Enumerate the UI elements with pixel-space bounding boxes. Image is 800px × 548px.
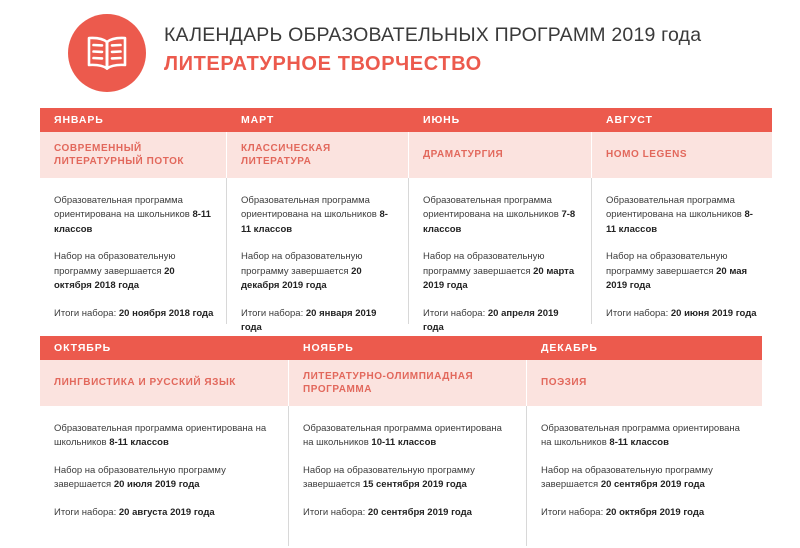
program-title-november: ЛИТЕРАТУРНО-ОЛИМПИАДНАЯ ПРОГРАММА — [289, 360, 527, 406]
results-line: Итоги набора: 20 августа 2019 года — [54, 506, 276, 520]
page-title: КАЛЕНДАРЬ ОБРАЗОВАТЕЛЬНЫХ ПРОГРАММ 2019 … — [164, 24, 701, 46]
audience-line: Образовательная программа ориентирована … — [423, 194, 579, 237]
month-label-march: МАРТ — [227, 108, 409, 132]
month-header-row: ОКТЯБРЬ НОЯБРЬ ДЕКАБРЬ — [40, 336, 762, 360]
program-title-march: КЛАССИЧЕСКАЯ ЛИТЕРАТУРА — [227, 132, 409, 178]
program-title-december: ПОЭЗИЯ — [527, 360, 762, 406]
program-title-august: HOMO LEGENS — [592, 132, 772, 178]
enrollment-line: Набор на образовательную программу завер… — [303, 464, 514, 493]
month-label-december: ДЕКАБРЬ — [527, 336, 762, 360]
program-detail-row: Образовательная программа ориентирована … — [40, 406, 762, 546]
program-details-march: Образовательная программа ориентирована … — [227, 178, 409, 324]
program-details-december: Образовательная программа ориентирована … — [527, 406, 762, 546]
program-title-row: СОВРЕМЕННЫЙ ЛИТЕРАТУРНЫЙ ПОТОК КЛАССИЧЕС… — [40, 132, 772, 178]
results-line: Итоги набора: 20 октября 2019 года — [541, 506, 750, 520]
results-line: Итоги набора: 20 сентября 2019 года — [303, 506, 514, 520]
enrollment-line: Набор на образовательную программу завер… — [541, 464, 750, 493]
audience-line: Образовательная программа ориентирована … — [606, 194, 760, 237]
month-label-october: ОКТЯБРЬ — [40, 336, 289, 360]
enrollment-line: Набор на образовательную программу завер… — [54, 464, 276, 493]
page-header: КАЛЕНДАРЬ ОБРАЗОВАТЕЛЬНЫХ ПРОГРАММ 2019 … — [0, 0, 800, 92]
program-details-august: Образовательная программа ориентирована … — [592, 178, 772, 324]
enrollment-line: Набор на образовательную программу завер… — [423, 250, 579, 293]
header-text-block: КАЛЕНДАРЬ ОБРАЗОВАТЕЛЬНЫХ ПРОГРАММ 2019 … — [164, 12, 701, 76]
month-label-august: АВГУСТ — [592, 108, 772, 132]
open-book-icon — [68, 14, 146, 92]
program-details-november: Образовательная программа ориентирована … — [289, 406, 527, 546]
program-title-row: ЛИНГВИСТИКА И РУССКИЙ ЯЗЫК ЛИТЕРАТУРНО-О… — [40, 360, 762, 406]
schedule-table-first-half: ЯНВАРЬ МАРТ ИЮНЬ АВГУСТ СОВРЕМЕННЫЙ ЛИТЕ… — [40, 108, 772, 324]
program-details-october: Образовательная программа ориентирована … — [40, 406, 289, 546]
audience-line: Образовательная программа ориентирована … — [303, 422, 514, 451]
results-line: Итоги набора: 20 июня 2019 года — [606, 307, 760, 321]
program-title-october: ЛИНГВИСТИКА И РУССКИЙ ЯЗЫК — [40, 360, 289, 406]
enrollment-line: Набор на образовательную программу завер… — [54, 250, 214, 293]
month-label-november: НОЯБРЬ — [289, 336, 527, 360]
enrollment-line: Набор на образовательную программу завер… — [606, 250, 760, 293]
schedule-table-second-half: ОКТЯБРЬ НОЯБРЬ ДЕКАБРЬ ЛИНГВИСТИКА И РУС… — [40, 336, 762, 546]
results-line: Итоги набора: 20 января 2019 года — [241, 307, 396, 336]
month-label-june: ИЮНЬ — [409, 108, 592, 132]
audience-line: Образовательная программа ориентирована … — [54, 194, 214, 237]
program-title-june: ДРАМАТУРГИЯ — [409, 132, 592, 178]
page-subtitle: ЛИТЕРАТУРНОЕ ТВОРЧЕСТВО — [164, 53, 701, 76]
audience-line: Образовательная программа ориентирована … — [541, 422, 750, 451]
audience-line: Образовательная программа ориентирована … — [241, 194, 396, 237]
program-detail-row: Образовательная программа ориентирована … — [40, 178, 772, 324]
program-details-june: Образовательная программа ориентирована … — [409, 178, 592, 324]
month-label-january: ЯНВАРЬ — [40, 108, 227, 132]
audience-line: Образовательная программа ориентирована … — [54, 422, 276, 451]
program-title-january: СОВРЕМЕННЫЙ ЛИТЕРАТУРНЫЙ ПОТОК — [40, 132, 227, 178]
enrollment-line: Набор на образовательную программу завер… — [241, 250, 396, 293]
results-line: Итоги набора: 20 ноября 2018 года — [54, 307, 214, 321]
results-line: Итоги набора: 20 апреля 2019 года — [423, 307, 579, 336]
program-details-january: Образовательная программа ориентирована … — [40, 178, 227, 324]
month-header-row: ЯНВАРЬ МАРТ ИЮНЬ АВГУСТ — [40, 108, 772, 132]
